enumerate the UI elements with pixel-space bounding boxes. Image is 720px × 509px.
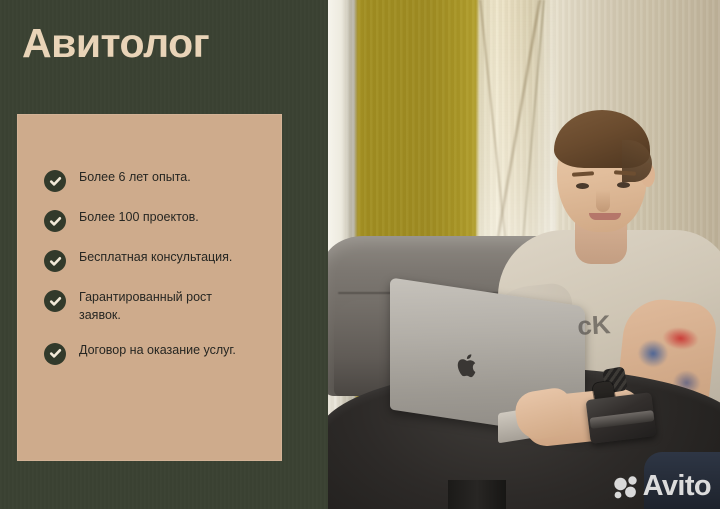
promo-banner: Авитолог Более 6 лет опыта. (0, 0, 720, 509)
feature-card: Более 6 лет опыта. Более 100 проектов. (17, 114, 282, 461)
person-nose (596, 190, 610, 212)
list-item: Более 100 проектов. (44, 209, 268, 232)
page-title: Авитолог (22, 21, 209, 66)
list-item: Бесплатная консультация. (44, 249, 268, 272)
avito-wordmark: Avito (643, 472, 711, 501)
list-item-label: Договор на оказание услуг. (79, 342, 236, 360)
list-item: Гарантированный рост заявок. (44, 289, 268, 325)
shirt-logo: cK (569, 307, 619, 343)
avito-watermark: Avito (613, 472, 711, 501)
list-item-label: Бесплатная консультация. (79, 249, 232, 267)
check-circle-icon (44, 250, 66, 272)
person-mouth (589, 213, 621, 220)
table-leg (448, 480, 506, 509)
avito-logo-icon (613, 475, 639, 499)
feature-list: Более 6 лет опыта. Более 100 проектов. (44, 169, 268, 365)
person-eye-right (617, 182, 630, 188)
check-circle-icon (44, 290, 66, 312)
list-item: Договор на оказание услуг. (44, 342, 268, 365)
check-circle-icon (44, 170, 66, 192)
list-item-label: Более 100 проектов. (79, 209, 199, 227)
left-info-panel: Авитолог Более 6 лет опыта. (0, 0, 328, 509)
person-eye-left (576, 183, 589, 189)
list-item-label: Гарантированный рост заявок. (79, 289, 254, 325)
check-circle-icon (44, 343, 66, 365)
check-circle-icon (44, 210, 66, 232)
list-item-label: Более 6 лет опыта. (79, 169, 191, 187)
hero-photo: cK Avito (328, 0, 720, 509)
list-item: Более 6 лет опыта. (44, 169, 268, 192)
apple-logo-icon (456, 350, 479, 380)
